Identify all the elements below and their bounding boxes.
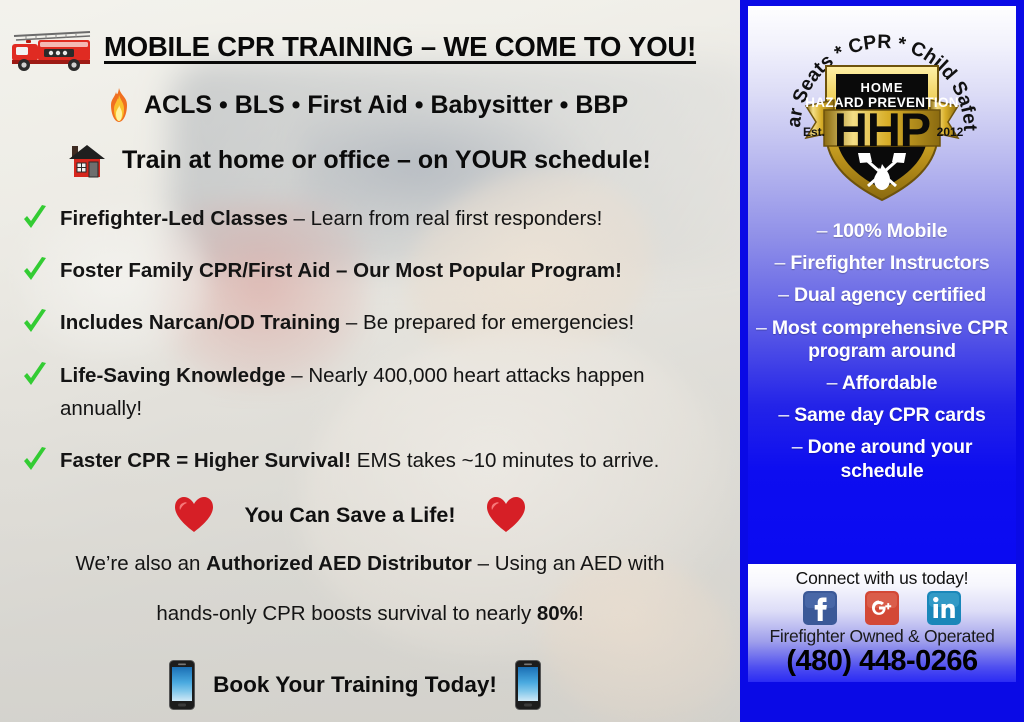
sidebar: Car Seats * CPR * Child Safety HOME HAZA…: [740, 0, 1024, 722]
sidebar-benefit-3: – Dual agency certified: [754, 284, 1010, 307]
googleplus-icon[interactable]: [865, 591, 899, 625]
benefit-text-1: Firefighter-Led Classes – Learn from rea…: [60, 202, 602, 235]
aed-survival-pre: hands-only CPR boosts survival to nearly: [156, 602, 537, 625]
main-panel: MOBILE CPR TRAINING – WE COME TO YOU! AC…: [0, 0, 740, 722]
mobile-phone-icon: [169, 660, 195, 710]
headline-row: MOBILE CPR TRAINING – WE COME TO YOU!: [0, 0, 740, 72]
aed-text-pre: We’re also an: [76, 552, 207, 575]
sidebar-benefit-4: – Most comprehensive CPR program around: [754, 317, 1010, 363]
cpr-training-flyer: MOBILE CPR TRAINING – WE COME TO YOU! AC…: [0, 0, 1024, 722]
list-item: Life-Saving Knowledge – Nearly 400,000 h…: [22, 359, 740, 425]
check-icon: [22, 308, 48, 336]
benefit-text-4: Life-Saving Knowledge – Nearly 400,000 h…: [60, 359, 645, 425]
book-training-cta[interactable]: Book Your Training Today!: [0, 660, 740, 710]
social-links: [754, 591, 1010, 625]
aed-survival-post: !: [578, 602, 584, 625]
linkedin-icon[interactable]: [927, 591, 961, 625]
check-icon: [22, 204, 48, 232]
list-item: Faster CPR = Higher Survival! EMS takes …: [22, 444, 740, 477]
mobile-phone-icon: [515, 660, 541, 710]
fire-icon: [106, 88, 132, 122]
aed-line-2: hands-only CPR boosts survival to nearly…: [0, 602, 740, 626]
schedule-tagline: Train at home or office – on YOUR schedu…: [122, 146, 651, 175]
check-icon: [22, 361, 48, 389]
aed-survival-pct: 80%: [537, 602, 578, 625]
heart-icon: [486, 496, 526, 534]
sidebar-benefits-list: – 100% Mobile – Firefighter Instructors …: [748, 218, 1016, 483]
save-a-life-text: You Can Save a Life!: [244, 503, 455, 528]
benefits-list: Firefighter-Led Classes – Learn from rea…: [0, 202, 740, 477]
sidebar-gradient-panel: Car Seats * CPR * Child Safety HOME HAZA…: [748, 6, 1016, 560]
benefit-text-5: Faster CPR = Higher Survival! EMS takes …: [60, 444, 659, 477]
connect-label: Connect with us today!: [754, 568, 1010, 589]
contact-footer: Connect with us today!: [748, 564, 1016, 682]
schedule-tagline-row: Train at home or office – on YOUR schedu…: [0, 142, 740, 178]
heart-icon: [174, 496, 214, 534]
logo-monogram: HHP: [834, 103, 930, 156]
list-item: Includes Narcan/OD Training – Be prepare…: [22, 306, 740, 339]
benefit-text-3: Includes Narcan/OD Training – Be prepare…: [60, 306, 634, 339]
logo-line-1: HOME: [861, 80, 904, 95]
aed-distributor-bold: Authorized AED Distributor: [206, 552, 472, 575]
footer-blue-tail: [748, 682, 1016, 718]
house-icon: [68, 142, 106, 178]
list-item: Foster Family CPR/First Aid – Our Most P…: [22, 254, 740, 287]
phone-number[interactable]: (480) 448-0266: [754, 646, 1010, 676]
logo-est-label: Est.: [803, 125, 825, 139]
check-icon: [22, 256, 48, 284]
owned-operated-label: Firefighter Owned & Operated: [754, 626, 1010, 647]
logo-wrap: Car Seats * CPR * Child Safety HOME HAZA…: [748, 6, 1016, 218]
sidebar-benefit-5: – Affordable: [754, 372, 1010, 395]
benefit-text-2: Foster Family CPR/First Aid – Our Most P…: [60, 254, 622, 287]
courses-tagline-row: ACLS • BLS • First Aid • Babysitter • BB…: [0, 88, 740, 122]
hhp-logo: Car Seats * CPR * Child Safety HOME HAZA…: [784, 14, 980, 214]
sidebar-benefit-1: – 100% Mobile: [754, 220, 1010, 243]
page-title: MOBILE CPR TRAINING – WE COME TO YOU!: [104, 31, 696, 63]
aed-text-post: – Using an AED with: [472, 552, 665, 575]
sidebar-benefit-6: – Same day CPR cards: [754, 404, 1010, 427]
list-item: Firefighter-Led Classes – Learn from rea…: [22, 202, 740, 235]
facebook-icon[interactable]: [803, 591, 837, 625]
sidebar-benefit-7: – Done around your schedule: [754, 436, 1010, 482]
save-a-life-row: You Can Save a Life!: [0, 496, 740, 534]
logo-est-year: 2012: [937, 125, 964, 139]
aed-line-1: We’re also an Authorized AED Distributor…: [0, 552, 740, 576]
sidebar-benefit-2: – Firefighter Instructors: [754, 252, 1010, 275]
book-training-label: Book Your Training Today!: [213, 672, 497, 698]
check-icon: [22, 446, 48, 474]
firetruck-icon: [4, 22, 98, 72]
courses-tagline: ACLS • BLS • First Aid • Babysitter • BB…: [144, 91, 628, 120]
